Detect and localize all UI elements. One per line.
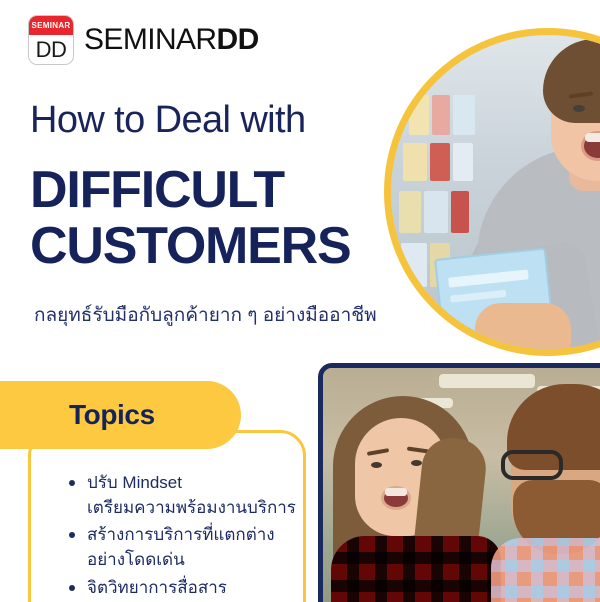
logo-mark-dd-text: DD <box>36 39 67 61</box>
seminar-dd-logo-mark: SEMINAR DD <box>28 15 74 65</box>
argue-woman-teeth <box>385 488 407 496</box>
circle-photo-inner <box>391 35 600 349</box>
topics-label: Topics <box>69 401 155 429</box>
argue-man-plaid-shirt <box>491 538 600 602</box>
topic-main-text: ปรับ Mindset <box>87 473 182 492</box>
rect-photo-argument <box>318 363 600 602</box>
logo-mark-top-band: SEMINAR <box>29 16 73 35</box>
woman-eye-left <box>573 105 585 112</box>
logo-mark-seminar-text: SEMINAR <box>32 22 71 30</box>
headline-line-2: DIFFICULT <box>30 162 284 218</box>
topic-main-text: สร้างการบริการที่แตกต่าง <box>87 525 275 544</box>
headline-line-3: CUSTOMERS <box>30 218 351 274</box>
list-item: สร้างการบริการที่แตกต่าง อย่างโดดเด่น <box>65 523 301 572</box>
ceiling-light-1 <box>439 374 535 388</box>
logo-mark-bottom-band: DD <box>29 35 73 64</box>
list-item: ปรับ Mindset เตรียมความพร้อมงานบริการ <box>65 471 301 520</box>
argue-woman-eye-left <box>371 462 382 468</box>
argue-woman-plaid-shirt <box>331 536 501 602</box>
brand-logo[interactable]: SEMINAR DD SEMINARDD <box>28 15 259 65</box>
topic-sub-text: เตรียมความพร้อมงานบริการ <box>87 496 301 521</box>
brand-wordmark-bold: DD <box>217 23 259 56</box>
poster-canvas: SEMINAR DD SEMINARDD <box>0 0 600 602</box>
list-item: จิตวิทยาการสื่อสาร <box>65 576 301 601</box>
argue-woman-eye-right <box>411 460 422 466</box>
topics-list: ปรับ Mindset เตรียมความพร้อมงานบริการ สร… <box>65 471 301 602</box>
circle-photo-upset-customer <box>384 28 600 356</box>
rect-photo-inner <box>323 368 600 602</box>
headline-subtitle-thai: กลยุทธ์รับมือกับลูกค้ายาก ๆ อย่างมืออาชี… <box>34 304 377 329</box>
woman-teeth <box>585 133 600 142</box>
argue-man-glasses <box>501 450 563 480</box>
headline-line-1: How to Deal with <box>30 100 306 142</box>
topics-frame: Topics ปรับ Mindset เตรียมความพร้อมงานบร… <box>28 430 306 602</box>
brand-wordmark: SEMINARDD <box>84 25 259 55</box>
topic-sub-text: อย่างโดดเด่น <box>87 548 301 573</box>
topic-main-text: จิตวิทยาการสื่อสาร <box>87 578 227 597</box>
woman-hand <box>475 303 571 349</box>
brand-wordmark-thin: SEMINAR <box>84 23 217 56</box>
topics-header-pill: Topics <box>0 381 241 449</box>
